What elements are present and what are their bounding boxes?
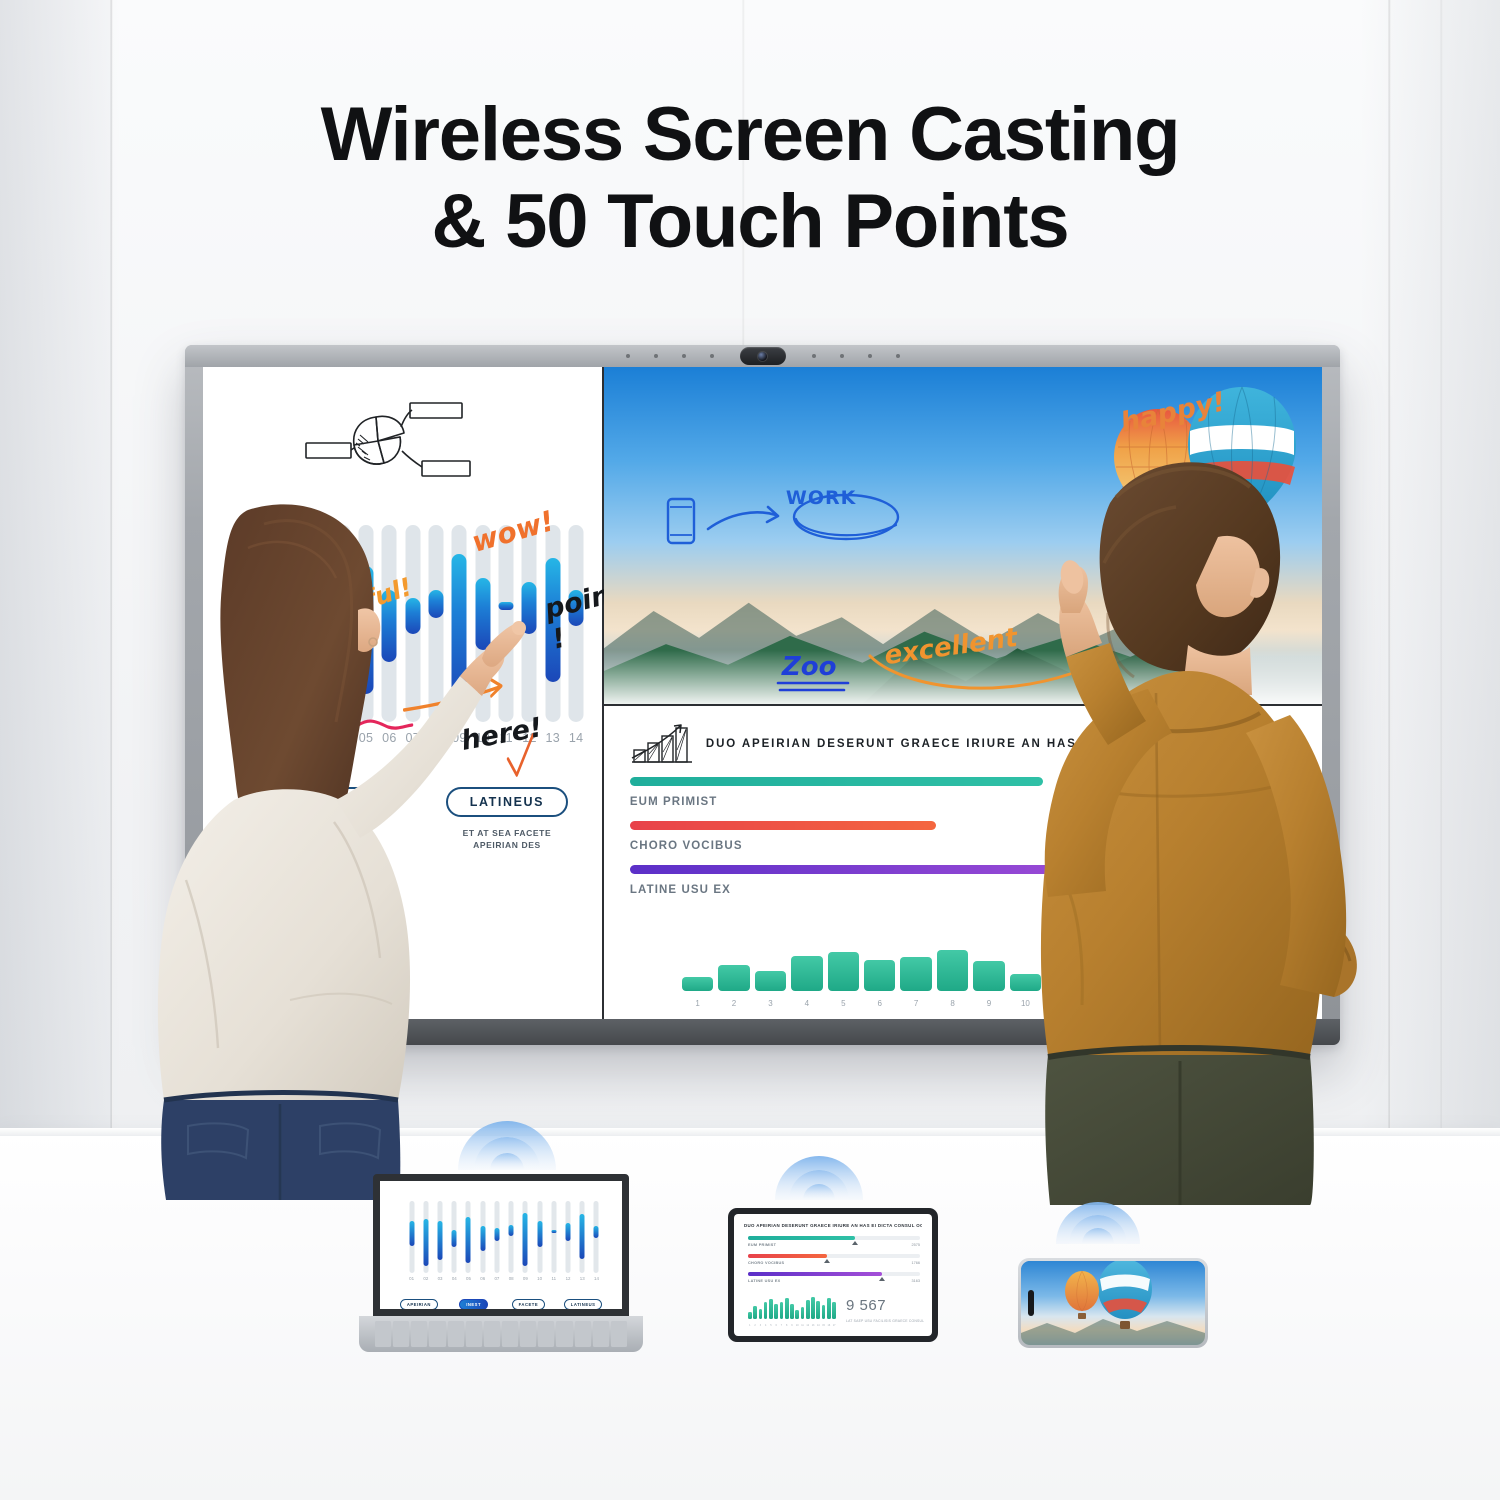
headline-line-1: Wireless Screen Casting (0, 92, 1500, 179)
laptop-chart-label: 07 (491, 1276, 502, 1281)
tablet-mini-bar-label: 8 (785, 1324, 789, 1327)
tablet-metric-row: LATINE USU EX3163 (748, 1272, 920, 1283)
mini-bar-label: 2 (718, 999, 749, 1008)
tablet-mini-bar-label: 9 (790, 1324, 794, 1327)
tablet-metric-fill (748, 1236, 855, 1240)
microphone-icon (654, 354, 658, 358)
tablet-frame: DUO APEIRIAN DESERUNT GRAECE IRIURE AN H… (728, 1208, 938, 1342)
tablet-metric-value: 2575 (912, 1243, 920, 1247)
tablet-mini-bar (769, 1299, 773, 1319)
key (611, 1321, 627, 1347)
microphone-icon (710, 354, 714, 358)
tablet-device[interactable]: DUO APEIRIAN DESERUNT GRAECE IRIURE AN H… (728, 1208, 938, 1342)
laptop-chart-label: 02 (420, 1276, 431, 1281)
laptop-chart-label: 10 (534, 1276, 545, 1281)
tablet-metric-row: EUM PRIMIST2575 (748, 1236, 920, 1247)
key (556, 1321, 572, 1347)
key (575, 1321, 591, 1347)
dashboard-metric-bar (630, 821, 936, 830)
key (484, 1321, 500, 1347)
tablet-mini-bar (748, 1312, 752, 1319)
laptop-chart-label: 09 (520, 1276, 531, 1281)
tablet-metric-marker (824, 1259, 830, 1263)
tablet-mini-bar (780, 1302, 784, 1319)
mini-bar (828, 952, 859, 991)
camera-icon[interactable] (740, 347, 786, 365)
tablet-mini-bar-label: 14 (816, 1324, 820, 1327)
mini-bar (755, 971, 786, 991)
laptop-chart-column (534, 1201, 545, 1273)
laptop-chart-range (494, 1228, 499, 1241)
microphone-icon (868, 354, 872, 358)
laptop-button-inest[interactable]: INEST (459, 1299, 488, 1310)
tablet-mini-bar-label: 13 (811, 1324, 815, 1327)
laptop-chart-label: 13 (577, 1276, 588, 1281)
tablet-big-caption: LAT SAEP USU FACILISIS GRAECE CONSUL (846, 1319, 924, 1323)
phone-frame (1018, 1258, 1208, 1348)
mini-bar-label: 3 (755, 999, 786, 1008)
microphone-icon (896, 354, 900, 358)
laptop-chart-label: 08 (506, 1276, 517, 1281)
laptop-chart-column (491, 1201, 502, 1273)
laptop-chart-range (423, 1219, 428, 1266)
tablet-metric-track (748, 1272, 920, 1276)
tablet-mini-bar (816, 1301, 820, 1319)
tablet-metric-rows: EUM PRIMIST2575CHORO VOCIBUS1766LATINE U… (748, 1236, 920, 1290)
laptop-chart-range (566, 1223, 571, 1242)
laptop-chart-label: 01 (406, 1276, 417, 1281)
tablet-mini-bar (801, 1307, 805, 1319)
tablet-mini-bar-label: 2 (753, 1324, 757, 1327)
tablet-metric-marker (879, 1277, 885, 1281)
laptop-chart-range (480, 1226, 485, 1252)
phone-screen[interactable] (1021, 1261, 1205, 1345)
microphone-icon (626, 354, 630, 358)
laptop-button-latineus[interactable]: LATINEUS (564, 1299, 603, 1310)
tablet-mini-bar-label: 15 (822, 1324, 826, 1327)
laptop-chart-column (463, 1201, 474, 1273)
tablet-mini-bar-label: 6 (774, 1324, 778, 1327)
laptop-chart (406, 1201, 602, 1273)
mini-bar (791, 956, 822, 991)
key (520, 1321, 536, 1347)
tablet-mini-chart (748, 1295, 836, 1319)
laptop-chart-column (548, 1201, 559, 1273)
laptop-chart-range (537, 1221, 542, 1247)
microphone-icon (812, 354, 816, 358)
laptop-button-group: LATINEUSUT AT SEA FACETE APEIRIAN DES (558, 1293, 608, 1316)
laptop-chart-range (466, 1217, 471, 1263)
laptop-chart-label: 05 (463, 1276, 474, 1281)
laptop-chart-column (406, 1201, 417, 1273)
laptop-device[interactable]: 0102030405060708091011121314 APEIRIANCON… (373, 1174, 629, 1352)
tablet-mini-bar (795, 1310, 799, 1319)
microphone-icon (840, 354, 844, 358)
laptop-chart-label: 03 (434, 1276, 445, 1281)
laptop-chart-label: 11 (548, 1276, 559, 1281)
laptop-chart-label: 12 (562, 1276, 573, 1281)
zoo-underline (776, 678, 866, 694)
laptop-chart-track (509, 1201, 514, 1273)
mini-bar (864, 960, 895, 991)
person-man-interacting (960, 445, 1430, 1205)
chart-bar-column (568, 522, 583, 722)
laptop-chart-column (577, 1201, 588, 1273)
mini-bar-label: 5 (828, 999, 859, 1008)
tablet-mini-bar (785, 1298, 789, 1319)
pie-sketch-icon (298, 399, 488, 491)
mini-bar-label: 7 (900, 999, 931, 1008)
chart-bar-range (569, 590, 584, 626)
tablet-metric-label: CHORO VOCIBUS (748, 1261, 920, 1265)
laptop-chart-label: 04 (449, 1276, 460, 1281)
mini-bar-label: 6 (864, 999, 895, 1008)
tablet-mini-bar-label: 10 (795, 1324, 799, 1327)
scene: Wireless Screen Casting & 50 Touch Point… (0, 0, 1500, 1500)
phone-device[interactable] (1018, 1258, 1208, 1348)
headline-line-2: & 50 Touch Points (0, 179, 1500, 266)
laptop-chart-track (551, 1201, 556, 1273)
laptop-chart-column (449, 1201, 460, 1273)
tablet-metric-track (748, 1254, 920, 1258)
phone-camera-notch (1028, 1290, 1034, 1316)
tablet-metric-value: 1766 (912, 1261, 920, 1265)
chart-x-label: 14 (568, 731, 583, 745)
tablet-mini-bar-label: 12 (806, 1324, 810, 1327)
key (448, 1321, 464, 1347)
laptop-button-facete[interactable]: FACETE (512, 1299, 546, 1310)
laptop-chart-column (506, 1201, 517, 1273)
laptop-chart-axis: 0102030405060708091011121314 (406, 1276, 602, 1281)
laptop-chart-range (594, 1226, 599, 1239)
key (411, 1321, 427, 1347)
laptop-chart-range (523, 1213, 528, 1266)
tablet-metric-value: 3163 (912, 1279, 920, 1283)
mini-bar (718, 965, 749, 991)
mini-bar (682, 977, 713, 991)
key (393, 1321, 409, 1347)
growth-chart-sketch-icon (630, 724, 696, 764)
microphone-icon (682, 354, 686, 358)
tablet-mini-bar-label: 3 (759, 1324, 763, 1327)
tablet-mini-bar-label: 16 (827, 1324, 831, 1327)
tablet-mini-chart-axis: 1234567891011121314151617 (748, 1324, 836, 1327)
cast-wave-tablet (770, 1118, 868, 1204)
tablet-metric-label: LATINE USU EX (748, 1279, 920, 1283)
laptop-button-apeirian[interactable]: APEIRIAN (400, 1299, 438, 1310)
tablet-metric-label: EUM PRIMIST (748, 1243, 920, 1247)
laptop-chart-range (509, 1225, 514, 1235)
microphone-array-left (626, 354, 714, 358)
tablet-mini-bar (806, 1300, 810, 1319)
tablet-mini-bar-label: 11 (801, 1324, 805, 1327)
laptop-keyboard-base[interactable] (359, 1316, 643, 1352)
laptop-button-group: APEIRIANCONSUL QUAERENDUM APEIRIAN DESER… (394, 1293, 444, 1316)
tablet-mini-bar (822, 1305, 826, 1319)
tablet-mini-bar-label: 7 (780, 1324, 784, 1327)
laptop-chart-range (409, 1221, 414, 1245)
phone-balloon-photo (1021, 1261, 1205, 1345)
laptop-button-group: FACETEERR TRACENDA ET AT SEA FACETE (504, 1293, 554, 1316)
tablet-mini-bar (764, 1302, 768, 1319)
laptop-chart-label: 14 (591, 1276, 602, 1281)
cast-wave-phone (1052, 1168, 1144, 1248)
laptop-chart-range (452, 1230, 457, 1247)
display-top-bezel (185, 345, 1340, 367)
cast-wave-laptop (452, 1078, 562, 1174)
laptop-chart-column (434, 1201, 445, 1273)
laptop-button-group: INESTAT SEA LAUDITEM LATINE USU SEA USU (449, 1293, 499, 1316)
tablet-metric-row: CHORO VOCIBUS1766 (748, 1254, 920, 1265)
page-title: Wireless Screen Casting & 50 Touch Point… (0, 92, 1500, 265)
tablet-big-number: 9 567 (846, 1297, 886, 1314)
tablet-mini-bar (790, 1304, 794, 1319)
mini-bar-label: 4 (791, 999, 822, 1008)
laptop-chart-column (591, 1201, 602, 1273)
tablet-mini-bar-label: 1 (748, 1324, 752, 1327)
tablet-metric-marker (852, 1241, 858, 1245)
key (593, 1321, 609, 1347)
laptop-chart-column (477, 1201, 488, 1273)
tablet-mini-bar (759, 1309, 763, 1319)
mini-bar (900, 957, 931, 991)
key (429, 1321, 445, 1347)
laptop-chart-range (551, 1230, 556, 1233)
phone-cast-sketch (664, 485, 934, 575)
mini-bar-label: 1 (682, 999, 713, 1008)
tablet-mini-bar (827, 1298, 831, 1319)
tablet-metric-fill (748, 1254, 827, 1258)
key (538, 1321, 554, 1347)
tablet-metric-track (748, 1236, 920, 1240)
key (375, 1321, 391, 1347)
laptop-chart-label: 06 (477, 1276, 488, 1281)
laptop-chart-column (520, 1201, 531, 1273)
tablet-mini-bar-label: 4 (764, 1324, 768, 1327)
tablet-mini-bar (774, 1304, 778, 1319)
laptop-chart-range (438, 1221, 443, 1260)
tablet-mini-bar-label: 5 (769, 1324, 773, 1327)
tablet-mini-bar (753, 1306, 757, 1319)
tablet-mini-bar (811, 1297, 815, 1319)
laptop-chart-column (420, 1201, 431, 1273)
laptop-keyboard[interactable] (375, 1321, 627, 1347)
camera-lens (758, 352, 767, 361)
tablet-metric-fill (748, 1272, 882, 1276)
laptop-button-row: APEIRIANCONSUL QUAERENDUM APEIRIAN DESER… (394, 1293, 608, 1316)
tablet-title: DUO APEIRIAN DESERUNT GRAECE IRIURE AN H… (744, 1223, 922, 1228)
microphone-array-right (812, 354, 900, 358)
laptop-chart-column (562, 1201, 573, 1273)
tablet-mini-bar-label: 17 (832, 1324, 836, 1327)
laptop-chart-range (580, 1214, 585, 1259)
laptop-screen[interactable]: 0102030405060708091011121314 APEIRIANCON… (373, 1174, 629, 1316)
tablet-screen[interactable]: DUO APEIRIAN DESERUNT GRAECE IRIURE AN H… (734, 1214, 932, 1336)
key (502, 1321, 518, 1347)
tablet-mini-bar (832, 1302, 836, 1319)
key (466, 1321, 482, 1347)
